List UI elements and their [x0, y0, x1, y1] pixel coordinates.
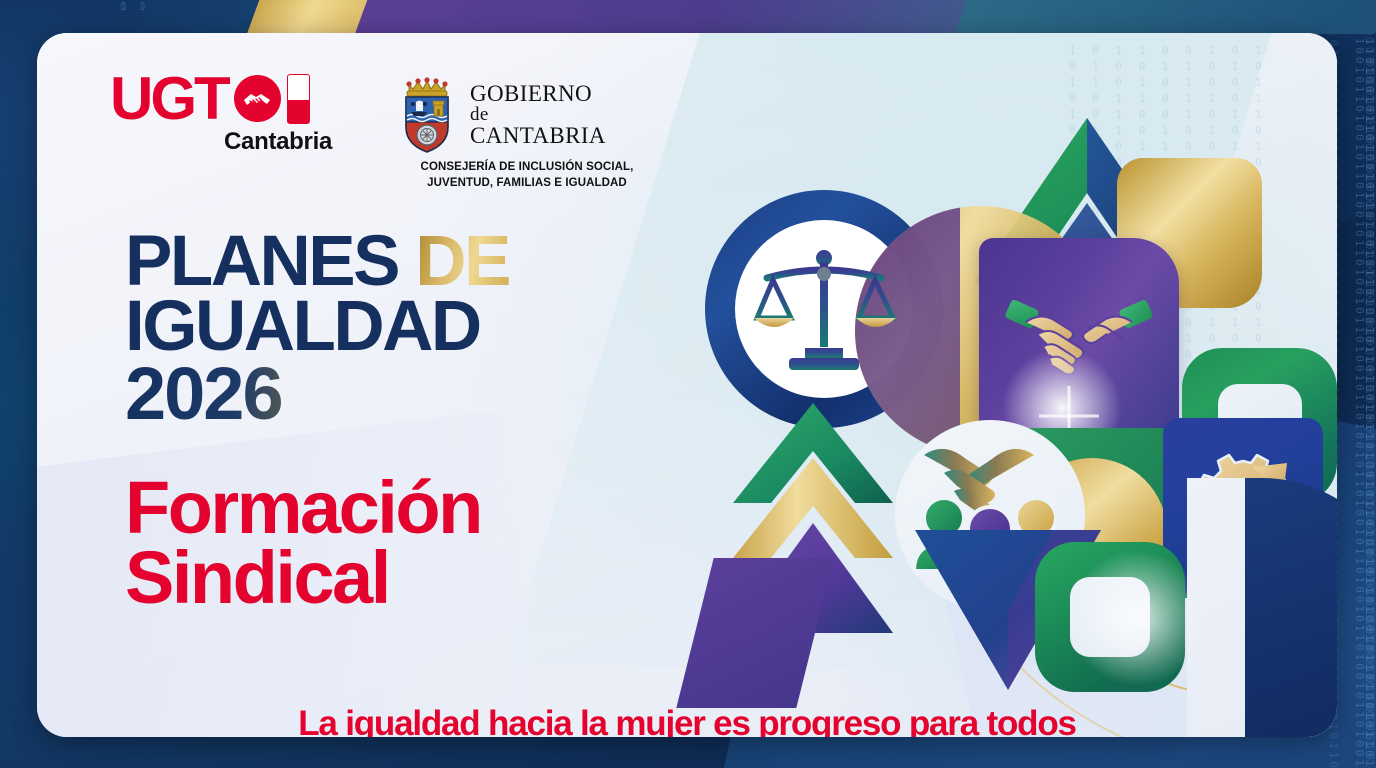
headline-year: 2026: [125, 360, 509, 428]
handshake-icon: [234, 75, 281, 122]
government-line-1: GOBIERNO: [470, 82, 606, 105]
logo-row: UGT Cantabria: [110, 71, 658, 191]
government-logo: GOBIERNO de CANTABRIA CONSEJERÍA DE INCL…: [396, 71, 658, 191]
flag-bar-icon: [287, 74, 310, 124]
graphic-composition: [687, 128, 1327, 708]
ugt-wordmark: UGT: [110, 71, 228, 126]
government-department-line-2: JUVENTUD, FAMILIAS E IGUALDAD: [396, 176, 658, 192]
navy-d-inner-cut: [1187, 478, 1245, 737]
government-line-3: CANTABRIA: [470, 124, 606, 147]
tagline: La igualdad hacia la mujer es progreso p…: [37, 704, 1337, 737]
main-card: 1 0 1 1 0 0 1 0 1 0 1 0 0 1 1 0 1 0 1 1 …: [37, 33, 1337, 737]
government-department: CONSEJERÍA DE INCLUSIÓN SOCIAL, JUVENTUD…: [396, 160, 658, 191]
ugt-region-label: Cantabria: [110, 128, 338, 156]
top-diagonal-bands: [0, 0, 1376, 34]
government-name: GOBIERNO de CANTABRIA: [470, 82, 606, 147]
handshake-card: [979, 238, 1179, 438]
subheadline-line-1: Formación: [125, 473, 481, 543]
subheadline-block: Formación Sindical: [125, 473, 481, 614]
subheadline-line-2: Sindical: [125, 543, 481, 613]
rounded-square-outline-icon-2: [1035, 542, 1185, 692]
scales-of-justice-icon: [749, 236, 899, 386]
ugt-logo: UGT Cantabria: [110, 71, 338, 156]
cantabria-coat-of-arms-icon: [396, 75, 458, 153]
headline-block: PLANES DE IGUALDAD 2026: [125, 229, 509, 428]
headline-line-2: IGUALDAD: [125, 294, 509, 359]
government-department-line-1: CONSEJERÍA DE INCLUSIÓN SOCIAL,: [396, 160, 658, 176]
handshake-icon: [1004, 288, 1154, 388]
headline-line-1: PLANES DE: [125, 229, 509, 294]
poster-root: 1001011010010110100101101001011010010110…: [0, 0, 1376, 768]
government-line-2: de: [470, 105, 606, 124]
